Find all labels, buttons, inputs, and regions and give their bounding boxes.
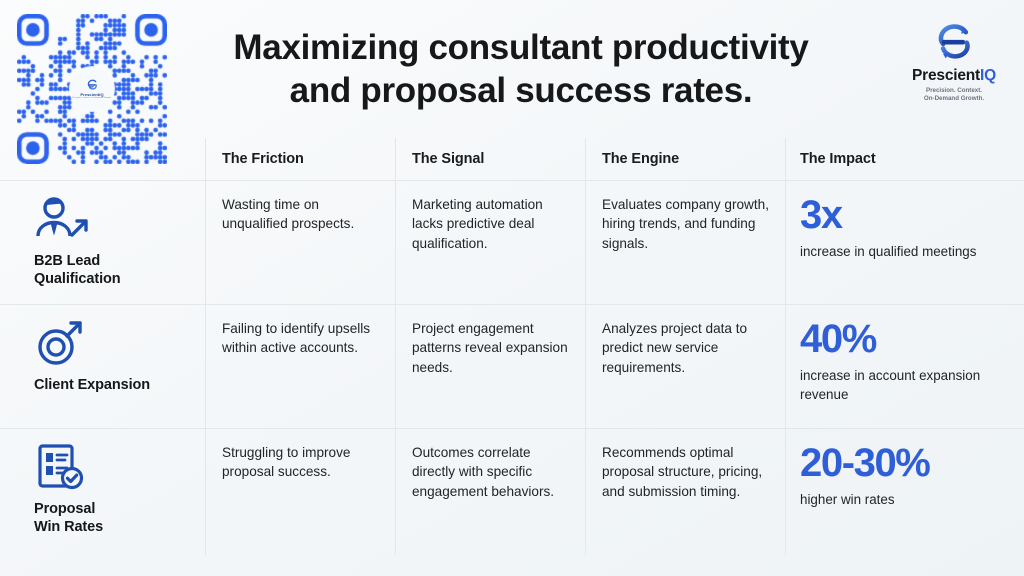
row-category-cell: Client Expansion: [0, 305, 205, 428]
qr-center-logo-tagline: Precision. Context. On-Demand Growth.: [72, 97, 111, 99]
comparison-table: The Friction The Signal The Engine The I…: [0, 138, 1024, 555]
swirl-e-icon: [86, 79, 99, 92]
row-category-line1: Proposal: [34, 501, 187, 519]
page-title-line2: and proposal success rates.: [176, 69, 866, 112]
row-signal-cell: Project engagement patterns reveal expan…: [395, 305, 585, 428]
client-expansion-circle-arrow-icon: [34, 319, 187, 371]
impact-stat-value: 40%: [800, 319, 1008, 359]
header-label-signal: The Signal: [412, 151, 484, 167]
row-engine-cell: Analyzes project data to predict new ser…: [585, 305, 785, 428]
row-category-line2: Qualification: [34, 271, 187, 289]
header-cell-impact: The Impact: [785, 138, 1024, 180]
row-engine-cell: Recommends optimal proposal structure, p…: [585, 429, 785, 555]
row-signal-cell: Outcomes correlate directly with specifi…: [395, 429, 585, 555]
page-title-line1: Maximizing consultant productivity: [233, 28, 808, 67]
page-title: Maximizing consultant productivity and p…: [176, 26, 866, 113]
brand-name-main: Prescient: [912, 67, 980, 84]
table-row: Proposal Win Rates Struggling to improve…: [0, 428, 1024, 555]
brand-logo: PrescientIQ Precision. Context. On-Deman…: [898, 22, 1010, 104]
header-cell-friction: The Friction: [205, 138, 395, 180]
lead-qualification-person-arrow-icon: [34, 195, 187, 247]
table-row: B2B Lead Qualification Wasting time on u…: [0, 180, 1024, 304]
row-friction-cell: Wasting time on unqualified prospects.: [205, 181, 395, 304]
engine-text: Evaluates company growth, hiring trends,…: [602, 195, 771, 253]
brand-tagline-line1: Precision. Context.: [898, 87, 1010, 96]
row-category-label: Client Expansion: [34, 377, 187, 395]
signal-text: Outcomes correlate directly with specifi…: [412, 443, 569, 501]
friction-text: Struggling to improve proposal success.: [222, 443, 377, 482]
swirl-e-icon: [934, 22, 974, 66]
slide-canvas: PrescientIQ Precision. Context. On-Deman…: [0, 0, 1024, 576]
table-row: Client Expansion Failing to identify ups…: [0, 304, 1024, 428]
signal-text: Marketing automation lacks predictive de…: [412, 195, 569, 253]
engine-text: Analyzes project data to predict new ser…: [602, 319, 771, 377]
impact-stat-value: 20-30%: [800, 443, 1008, 483]
header-label-friction: The Friction: [222, 151, 304, 167]
impact-stat-value: 3x: [800, 195, 1008, 235]
header-label-impact: The Impact: [800, 151, 876, 167]
row-impact-cell: 20-30% higher win rates: [785, 429, 1024, 555]
impact-stat-caption: higher win rates: [800, 491, 1008, 510]
row-category-cell: Proposal Win Rates: [0, 429, 205, 555]
brand-wordmark: PrescientIQ: [898, 68, 1010, 84]
table-header-row: The Friction The Signal The Engine The I…: [0, 138, 1024, 180]
qr-center-logo: PrescientIQ Precision. Context. On-Deman…: [71, 68, 113, 110]
friction-text: Wasting time on unqualified prospects.: [222, 195, 377, 234]
impact-stat-caption: increase in qualified meetings: [800, 243, 1008, 262]
row-category-line1: Client Expansion: [34, 377, 187, 395]
row-category-label: B2B Lead Qualification: [34, 253, 187, 288]
row-category-label: Proposal Win Rates: [34, 501, 187, 536]
row-friction-cell: Struggling to improve proposal success.: [205, 429, 395, 555]
impact-stat-caption: increase in account expansion revenue: [800, 367, 1008, 404]
row-impact-cell: 40% increase in account expansion revenu…: [785, 305, 1024, 428]
row-friction-cell: Failing to identify upsells within activ…: [205, 305, 395, 428]
row-category-line2: Win Rates: [34, 519, 187, 537]
header-cell-signal: The Signal: [395, 138, 585, 180]
brand-name-accent: IQ: [980, 67, 996, 84]
engine-text: Recommends optimal proposal structure, p…: [602, 443, 771, 501]
friction-text: Failing to identify upsells within activ…: [222, 319, 377, 358]
header-label-engine: The Engine: [602, 151, 679, 167]
header-cell-category: [0, 138, 205, 180]
proposal-document-check-icon: [34, 443, 187, 495]
header-cell-engine: The Engine: [585, 138, 785, 180]
row-category-cell: B2B Lead Qualification: [0, 181, 205, 304]
row-engine-cell: Evaluates company growth, hiring trends,…: [585, 181, 785, 304]
row-impact-cell: 3x increase in qualified meetings: [785, 181, 1024, 304]
brand-tagline: Precision. Context. On-Demand Growth.: [898, 87, 1010, 105]
signal-text: Project engagement patterns reveal expan…: [412, 319, 569, 377]
row-category-line1: B2B Lead: [34, 253, 187, 271]
brand-tagline-line2: On-Demand Growth.: [898, 95, 1010, 104]
row-signal-cell: Marketing automation lacks predictive de…: [395, 181, 585, 304]
